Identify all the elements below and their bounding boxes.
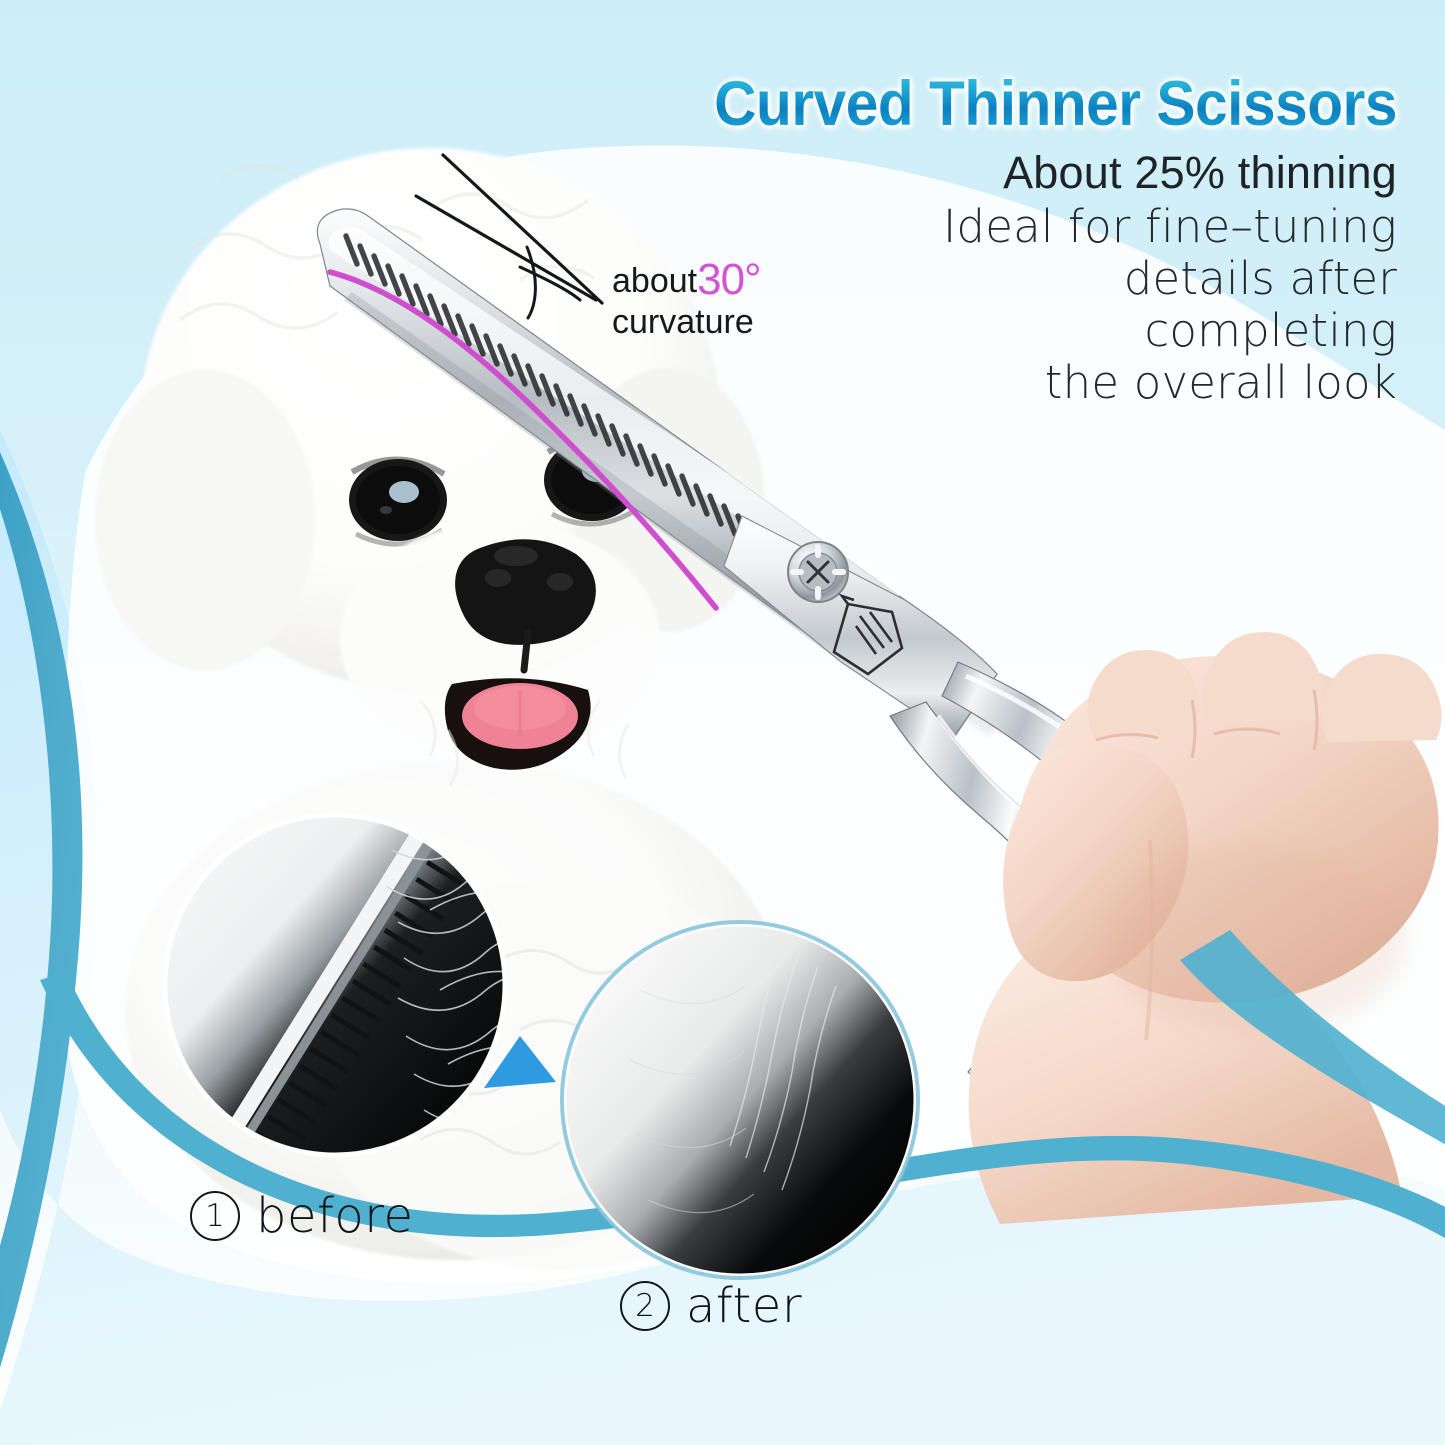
curvature-callout: about30° curvature [612,258,761,339]
caption-after: 2 after [620,1278,802,1334]
subtitle-line: Ideal for fine–tuning [637,201,1397,253]
subtitle-line: the overall look [637,357,1397,409]
page-title: Curved Thinner Scissors [690,72,1397,136]
caption-number-badge: 1 [190,1191,240,1241]
curvature-prefix: about [612,262,697,300]
caption-label: before [256,1188,413,1244]
subtitle-primary: About 25% thinning [637,148,1397,198]
curvature-callout-line2: curvature [612,305,761,339]
curvature-degrees: 30° [697,255,761,304]
headline-block: Curved Thinner Scissors About 25% thinni… [637,72,1397,409]
dog-ear-left [95,370,315,670]
curvature-callout-line1: about30° [612,258,761,302]
caption-number-badge: 2 [620,1281,670,1331]
infographic-canvas: Curved Thinner Scissors About 25% thinni… [0,0,1445,1445]
caption-before: 1 before [190,1188,413,1244]
caption-label: after [686,1278,802,1334]
tension-screw [788,542,848,602]
